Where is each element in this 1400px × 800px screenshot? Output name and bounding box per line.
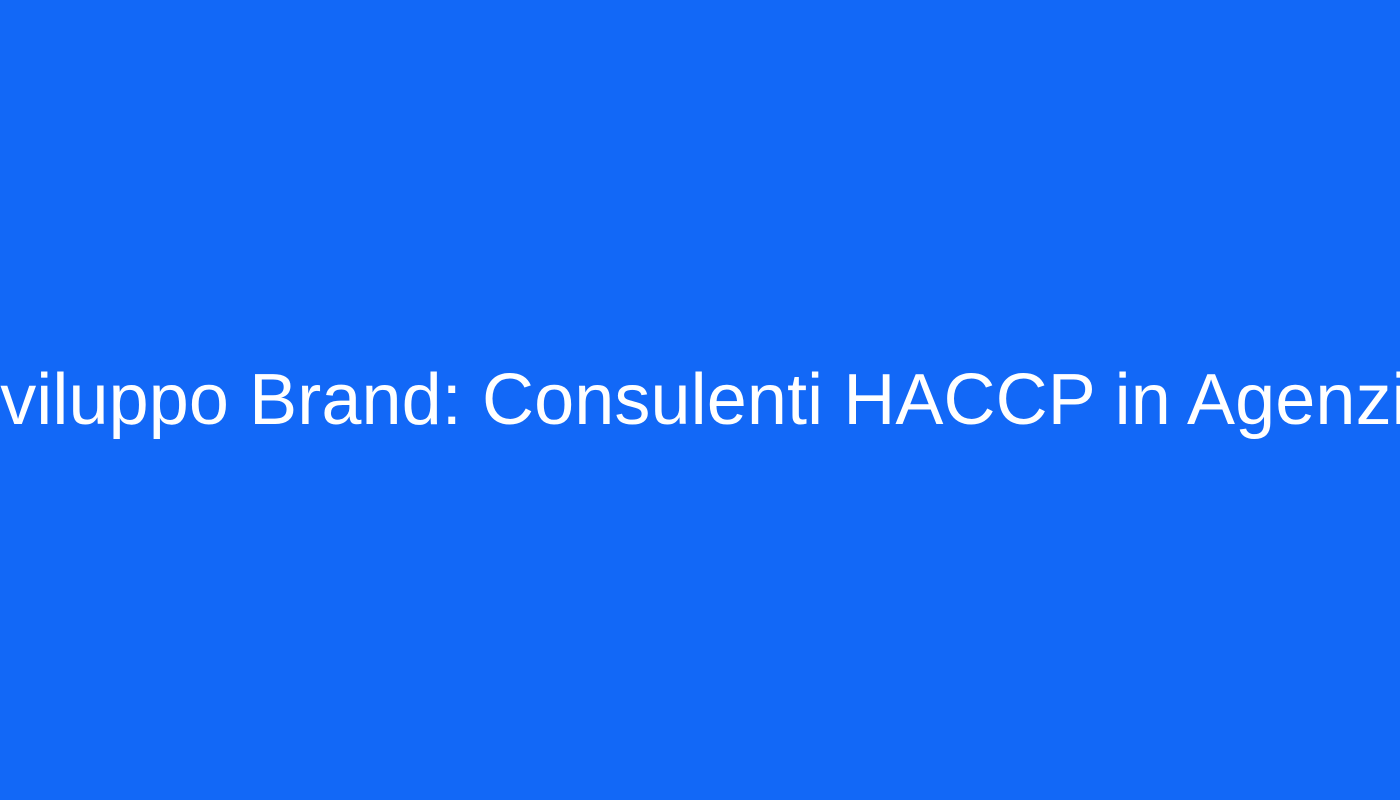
page-title: Sviluppo Brand: Consulenti HACCP in Agen… — [0, 359, 1400, 442]
hero-banner: Sviluppo Brand: Consulenti HACCP in Agen… — [0, 0, 1400, 800]
